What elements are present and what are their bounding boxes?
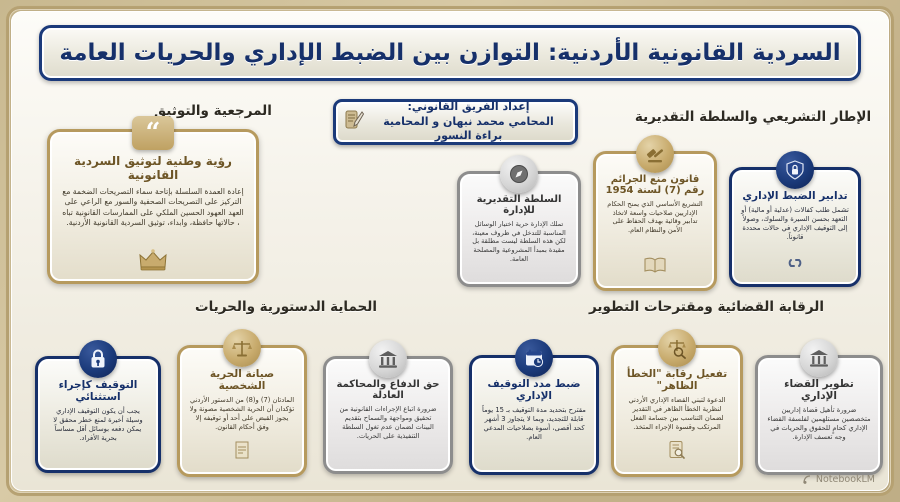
card-title: تدابير الضبط الإداري [742,190,847,202]
card-title: صيانة الحرية الشخصية [189,368,295,392]
card-manifest-error-review[interactable]: تفعيل رقابة "الخطأ الظاهر" الدعوة لتبني … [611,345,743,477]
section-header-constitutional: الحماية الدستورية والحريات [151,299,421,315]
open-book-icon [643,256,667,280]
section-header-legislative: الإطار التشريعي والسلطة التقديرية [603,109,889,125]
card-title: السلطة التقديرية للإدارة [469,194,569,216]
document-search-icon [667,440,687,466]
courthouse-icon [369,340,407,378]
notebooklm-watermark: NotebookLM [802,474,875,485]
notebooklm-logo-icon [802,474,813,485]
quill-pen-icon [344,108,364,136]
card-body: إعادة العمدة السلسلة بإتاحة سماء التصريح… [62,187,244,229]
scales-magnifier-icon [658,329,696,367]
card-title: تطوير القضاء الإداري [767,378,871,402]
card-body: ضرورة تأهيل قضاة إداريين متخصصين مستلهمي… [767,406,871,442]
card-title: حق الدفاع والمحاكمة العادلة [335,379,441,401]
crown-icon [138,249,168,275]
card-body: تشمل طلب كفالات (عدلية أو مالية) أو التع… [741,206,849,242]
author-label: إعداد الفريق القانوني: [370,100,567,115]
card-national-documentation-vision[interactable]: “ رؤية وطنية لتوثيق السردية القانونية إع… [47,129,259,284]
card-right-to-defense-fair-trial[interactable]: حق الدفاع والمحاكمة العادلة ضرورة اتباع … [323,356,453,474]
card-personal-freedom-protection[interactable]: صيانة الحرية الشخصية المادتان (7) و(8) م… [177,345,307,477]
card-detention-duration-limits[interactable]: ضبط مدد التوقيف الإداري مقترح بتحديد مدة… [469,355,599,475]
quote-icon: “ [132,116,174,150]
section-header-judicial: الرقابة القضائية ومقترحات التطوير [539,299,874,315]
card-body: تملك الإدارة حرية اختيار الوسائل المناسب… [469,220,569,264]
card-title: التوقيف كإجراء استثنائي [47,379,149,403]
card-body: التشريع الأساسي الذي يمنح الحكام الإداري… [605,200,705,235]
watermark-label: NotebookLM [816,474,875,485]
infographic-poster: السردية القانونية الأردنية: التوازن بين … [0,0,900,502]
card-title: ضبط مدد التوقيف الإداري [481,378,587,402]
padlock-icon [79,340,117,378]
page-title: السردية القانونية الأردنية: التوازن بين … [59,40,840,66]
card-body: المادتان (7) و(8) من الدستور الأردني تؤك… [189,396,295,431]
card-title: رؤية وطنية لتوثيق السردية القانونية [62,154,244,182]
author-credit-box: إعداد الفريق القانوني: المحامي محمد نبها… [333,99,578,145]
shield-lock-icon [776,151,814,189]
card-administrative-judiciary-development[interactable]: تطوير القضاء الإداري ضرورة تأهيل قضاة إد… [755,355,883,475]
classical-building-icon [800,339,838,377]
card-title: قانون منع الجرائم رقم (7) لسنة 1954 [605,174,705,196]
card-administrative-control-measures[interactable]: تدابير الضبط الإداري تشمل طلب كفالات (عد… [729,167,861,287]
card-administrative-discretionary-power[interactable]: السلطة التقديرية للإدارة تملك الإدارة حر… [457,171,581,287]
scales-icon [223,329,261,367]
gavel-icon [636,135,674,173]
card-crime-prevention-law-1954[interactable]: قانون منع الجرائم رقم (7) لسنة 1954 التش… [593,151,717,291]
page-title-bar: السردية القانونية الأردنية: التوازن بين … [39,25,861,81]
compass-icon [500,155,538,193]
inner-panel: السردية القانونية الأردنية: التوازن بين … [11,11,889,491]
card-body: مقترح بتحديد مدة التوقيف بـ 15 يوماً قاب… [481,406,587,442]
card-body: ضرورة اتباع الإجراءات القانونية من تحقيق… [335,405,441,440]
card-body: الدعوة لتبني القضاء الإداري الأردني لنظر… [623,396,731,431]
card-body: يجب أن يكون التوقيف الإداري وسيلة أخيرة … [47,407,149,443]
author-names: المحامي محمد نبهان و المحامية براءة النس… [370,115,567,145]
calendar-clock-icon [515,339,553,377]
card-title: تفعيل رقابة "الخطأ الظاهر" [623,368,731,392]
chain-link-icon [782,255,808,276]
card-detention-exceptional-measure[interactable]: التوقيف كإجراء استثنائي يجب أن يكون التو… [35,356,161,473]
scroll-document-icon [232,440,252,466]
